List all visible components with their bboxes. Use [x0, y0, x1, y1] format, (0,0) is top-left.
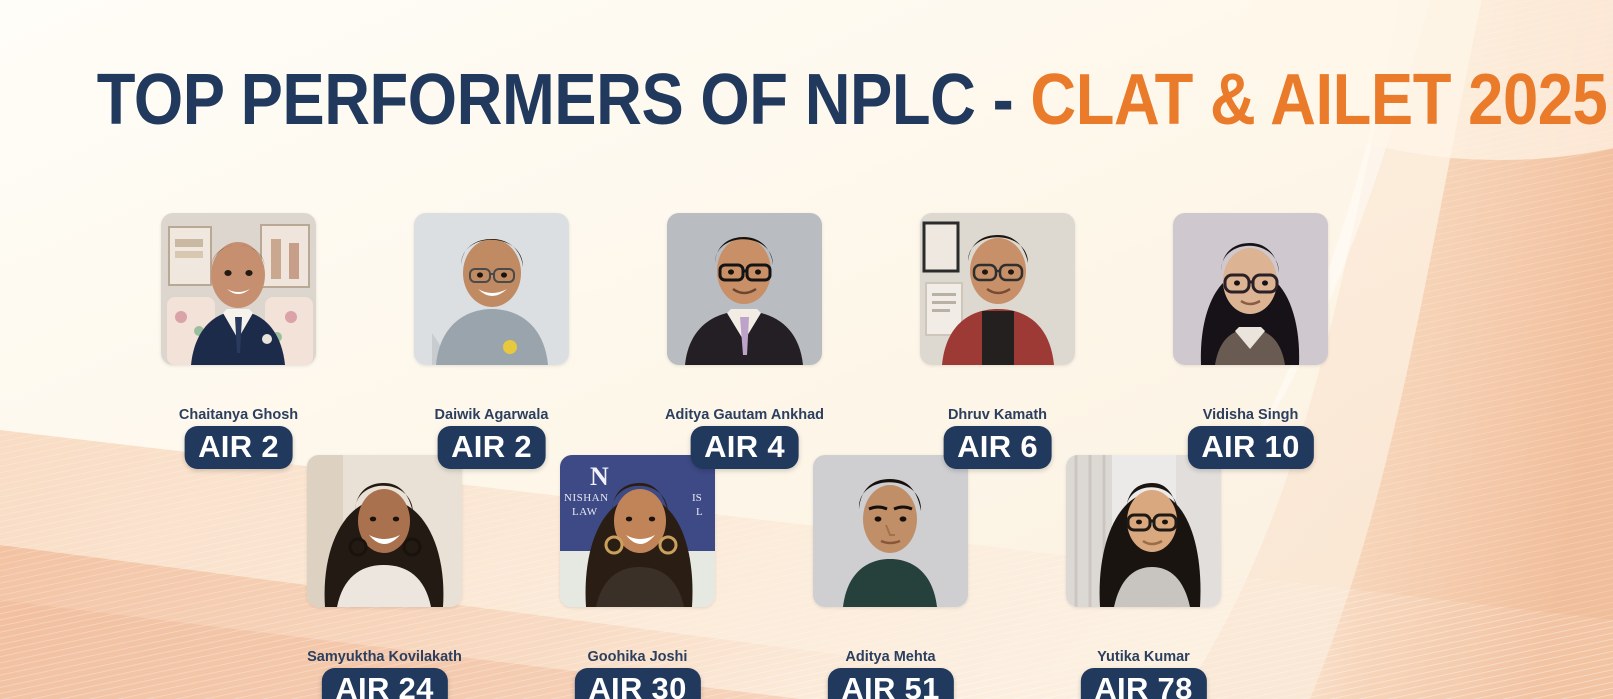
title-orange-text: CLAT & AILET 2025 [1030, 60, 1607, 140]
portrait-illustration [1173, 213, 1328, 365]
performer-card[interactable]: AIR 10 Vidisha Singh [AILET] [1169, 213, 1332, 446]
portrait-illustration: N NISHAN LAW IS L [560, 455, 715, 607]
performer-card[interactable]: N NISHAN LAW IS L AIR 30 [556, 455, 719, 688]
performer-photo: N NISHAN LAW IS L [560, 455, 715, 607]
rank-badge: AIR 6 [943, 426, 1052, 469]
svg-text:IS: IS [692, 492, 702, 504]
performer-photo [414, 213, 569, 365]
svg-text:LAW: LAW [572, 506, 598, 518]
rank-badge: AIR 24 [321, 668, 447, 699]
performer-name: Dhruv Kamath [948, 407, 1047, 423]
performers-row-top: AIR 2 Chaitanya Ghosh [AILET] [157, 213, 1332, 446]
performer-photo [667, 213, 822, 365]
performer-name: Goohika Joshi [588, 649, 688, 665]
portrait-illustration [920, 213, 1075, 365]
portrait-illustration [307, 455, 462, 607]
rank-badge: AIR 30 [574, 668, 700, 699]
portrait-illustration [414, 213, 569, 365]
performer-card[interactable]: AIR 4 Aditya Gautam Ankhad [CLAT] [663, 213, 826, 446]
performer-photo [307, 455, 462, 607]
portrait-illustration [813, 455, 968, 607]
rank-badge: AIR 51 [827, 668, 953, 699]
performer-photo [813, 455, 968, 607]
performer-photo [1066, 455, 1221, 607]
performer-name: Yutika Kumar [1097, 649, 1190, 665]
performer-photo [920, 213, 1075, 365]
title-navy-text: TOP PERFORMERS OF NPLC - [97, 60, 1031, 140]
svg-text:N: N [590, 462, 609, 491]
performer-photo [1173, 213, 1328, 365]
performer-card[interactable]: AIR 2 Daiwik Agarwala [CLAT] [410, 213, 573, 446]
performer-card[interactable]: AIR 51 Aditya Mehta [AILET] [809, 455, 972, 688]
performer-card[interactable]: AIR 78 Yutika Kumar [AILET] [1062, 455, 1225, 688]
performer-card[interactable]: AIR 2 Chaitanya Ghosh [AILET] [157, 213, 320, 446]
performer-name: Vidisha Singh [1203, 407, 1299, 423]
performer-name: Chaitanya Ghosh [179, 407, 298, 423]
page-title: TOP PERFORMERS OF NPLC - CLAT & AILET 20… [97, 64, 1516, 136]
rank-badge: AIR 10 [1187, 426, 1313, 469]
portrait-illustration [667, 213, 822, 365]
performer-name: Daiwik Agarwala [435, 407, 549, 423]
portrait-illustration [1066, 455, 1221, 607]
rank-badge: AIR 2 [437, 426, 546, 469]
svg-text:L: L [696, 506, 703, 518]
rank-badge: AIR 78 [1080, 668, 1206, 699]
performer-name: Aditya Mehta [845, 649, 935, 665]
performer-card[interactable]: AIR 6 Dhruv Kamath [AILET] [916, 213, 1079, 446]
performer-name: Aditya Gautam Ankhad [665, 407, 824, 423]
performer-name: Samyuktha Kovilakath [307, 649, 462, 665]
rank-badge: AIR 2 [184, 426, 293, 469]
svg-text:NISHAN: NISHAN [564, 492, 609, 504]
performer-photo [161, 213, 316, 365]
portrait-illustration [161, 213, 316, 365]
rank-badge: AIR 4 [690, 426, 799, 469]
poster-canvas: TOP PERFORMERS OF NPLC - CLAT & AILET 20… [0, 0, 1613, 699]
performer-card[interactable]: AIR 24 Samyuktha Kovilakath [AILET] [303, 455, 466, 688]
performers-row-bottom: AIR 24 Samyuktha Kovilakath [AILET] N NI… [303, 455, 1225, 688]
